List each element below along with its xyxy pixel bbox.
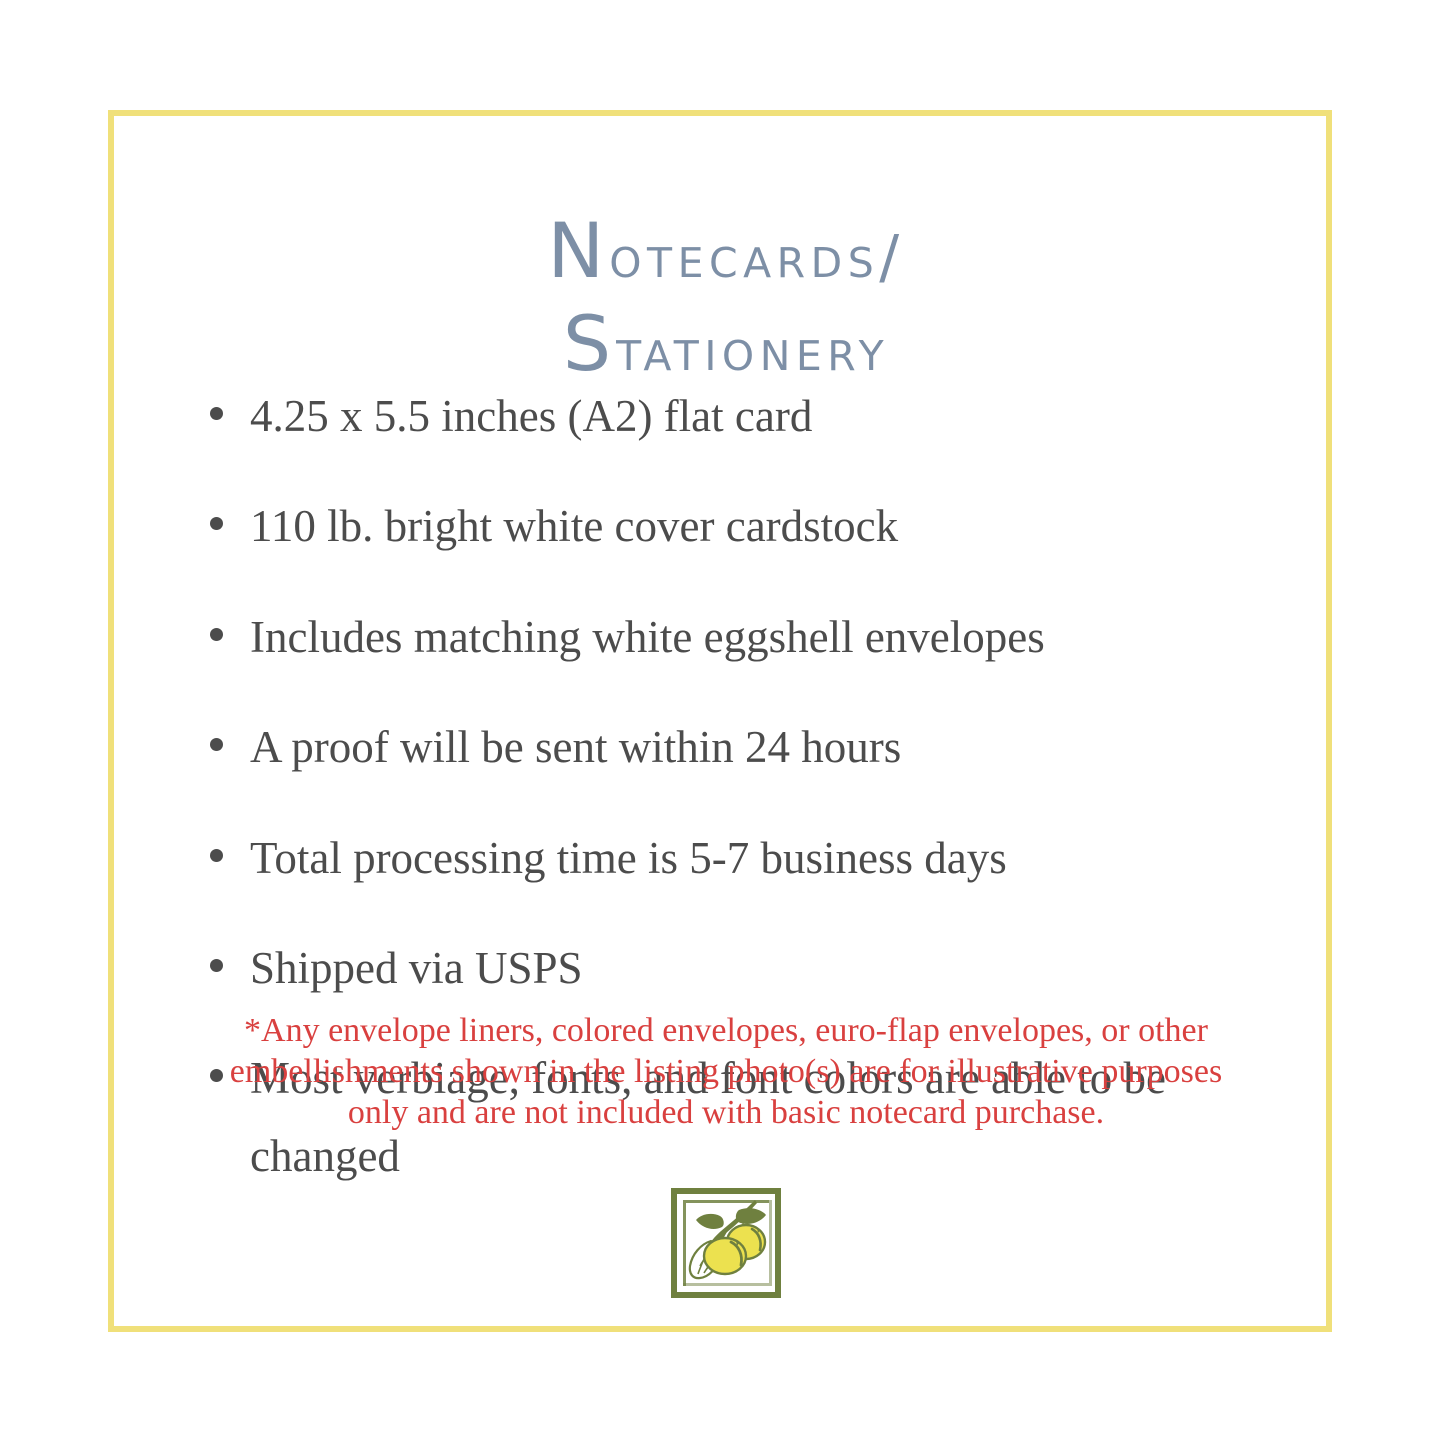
bullet-dot-icon	[210, 959, 223, 972]
disclaimer-note: *Any envelope liners, colored envelopes,…	[154, 1011, 1298, 1133]
list-item: 110 lb. bright white cover cardstock	[202, 488, 1312, 565]
lemon-branch-logo-icon	[667, 1184, 785, 1302]
title-line-2-initial: S	[563, 299, 616, 388]
bullet-dot-icon	[210, 407, 223, 420]
bullet-dot-icon	[210, 628, 223, 641]
card-content: Notecards/ Stationery 4.25 x 5.5 inches …	[114, 116, 1338, 1338]
title-line-2: Stationery	[114, 298, 1338, 391]
title-line-1-initial: N	[547, 206, 609, 295]
page-canvas: Notecards/ Stationery 4.25 x 5.5 inches …	[0, 0, 1445, 1445]
list-item-label: Shipped via USPS	[250, 943, 583, 993]
brand-logo	[114, 1184, 1338, 1302]
list-item: Shipped via USPS	[202, 930, 1312, 1007]
list-item-label: 4.25 x 5.5 inches (A2) flat card	[250, 391, 812, 441]
list-item: Includes matching white eggshell envelop…	[202, 599, 1312, 676]
list-item-label: 110 lb. bright white cover cardstock	[250, 501, 898, 551]
yellow-border-frame: Notecards/ Stationery 4.25 x 5.5 inches …	[108, 110, 1332, 1332]
list-item-label: Includes matching white eggshell envelop…	[250, 612, 1045, 662]
list-item: A proof will be sent within 24 hours	[202, 709, 1312, 786]
page-title: Notecards/ Stationery	[114, 205, 1338, 390]
list-item: Total processing time is 5-7 business da…	[202, 820, 1312, 897]
title-line-2-rest: tationery	[616, 315, 889, 384]
disclaimer-line-3: only and are not included with basic not…	[154, 1093, 1298, 1134]
bullet-dot-icon	[210, 849, 223, 862]
bullet-dot-icon	[210, 738, 223, 751]
disclaimer-line-1: *Any envelope liners, colored envelopes,…	[154, 1011, 1298, 1052]
list-item: 4.25 x 5.5 inches (A2) flat card	[202, 378, 1312, 455]
disclaimer-line-2: embellishments shown in the listing phot…	[154, 1052, 1298, 1093]
list-item-label: A proof will be sent within 24 hours	[250, 722, 901, 772]
bullet-dot-icon	[210, 517, 223, 530]
title-line-1: Notecards/	[114, 205, 1338, 298]
list-item-label: Total processing time is 5-7 business da…	[250, 833, 1007, 883]
title-line-1-rest: otecards/	[609, 222, 904, 291]
